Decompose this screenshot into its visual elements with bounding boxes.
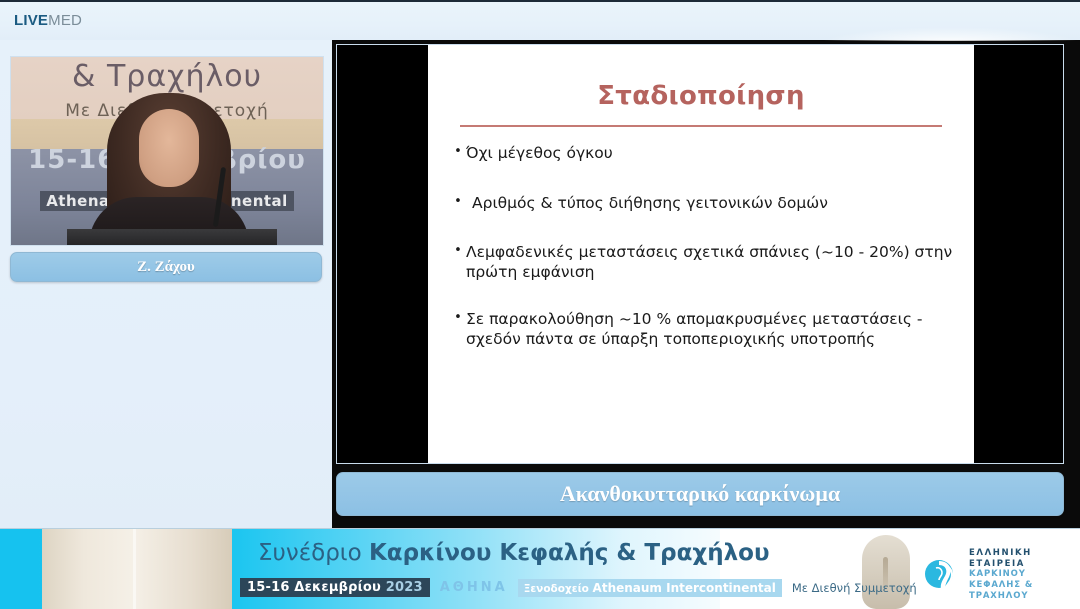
list-item: • Αριθμός & τύπος διήθησης γειτονικών δο… <box>450 193 958 213</box>
presentation-title-bar: Ακανθοκυτταρικό καρκίνωμα <box>336 472 1064 516</box>
bullet-text: Σε παρακολούθηση ~10 % απομακρυσμένες με… <box>466 309 958 350</box>
speaker-video[interactable]: & Τραχήλου Με Διεθνή Συμμετοχή 15-16 Δεκ… <box>10 56 324 246</box>
list-item: • Λεμφαδενικές μεταστάσεις σχετικά σπάνι… <box>450 242 958 283</box>
congress-date-year: 2023 <box>386 580 423 595</box>
bullet-dot-icon: • <box>450 309 466 328</box>
bullet-text: Όχι μέγεθος όγκου <box>466 143 958 163</box>
speaker-name-badge: Ζ. Ζάχου <box>10 252 322 282</box>
podium <box>67 229 277 246</box>
bullet-dot-icon: • <box>450 143 466 162</box>
congress-city: ΑΘΗΝΑ <box>436 580 512 595</box>
speaker-silhouette-face <box>139 109 199 187</box>
logo-live-text: LIVE <box>14 12 48 29</box>
slide-canvas: Σταδιοποίηση • Όχι μέγεθος όγκου • Αριθμ… <box>428 45 974 463</box>
slide-stage[interactable]: Σταδιοποίηση • Όχι μέγεθος όγκου • Αριθμ… <box>336 44 1064 464</box>
livemed-logo[interactable]: LIVEMED <box>14 13 82 28</box>
congress-details: 15-16 Δεκεμβρίου 2023 ΑΘΗΝΑ Ξενοδοχείο A… <box>240 578 917 597</box>
logo-med-text: MED <box>48 12 82 29</box>
backdrop-text-line1: & Τραχήλου <box>11 59 323 94</box>
player-page: LIVEMED & Τραχήλου Με Διεθνή Συμμετοχή 1… <box>0 0 1080 608</box>
slide-title: Σταδιοποίηση <box>428 81 974 111</box>
society-logo-text: ΕΛΛΗΝΙΚΗ ΕΤΑΙΡΕΙΑ ΚΑΡΚΙΝΟΥ ΚΕΦΑΛΗΣ & ΤΡΑ… <box>969 548 1080 601</box>
slide-title-divider <box>460 125 942 127</box>
top-bar: LIVEMED <box>0 0 1080 40</box>
presentation-title-label: Ακανθοκυτταρικό καρκίνωμα <box>560 481 840 507</box>
congress-title-bold: Καρκίνου Κεφαλής & Τραχήλου <box>369 540 770 566</box>
bullet-text: Αριθμός & τύπος διήθησης γειτονικών δομώ… <box>466 193 958 213</box>
cycladic-figurine-icon <box>862 535 910 609</box>
congress-title-light: Συνέδριο <box>258 540 369 566</box>
congress-participation: Με Διεθνή Συμμετοχή <box>788 581 917 595</box>
bullet-dot-icon: • <box>450 193 466 212</box>
list-item: • Όχι μέγεθος όγκου <box>450 143 958 163</box>
bullet-text: Λεμφαδενικές μεταστάσεις σχετικά σπάνιες… <box>466 242 958 283</box>
congress-venue: Ξενοδοχείο Athenaum Intercontinental <box>518 579 782 597</box>
bullet-dot-icon: • <box>450 242 466 261</box>
society-ribbon-head-icon <box>922 555 962 595</box>
congress-venue-name: Athenaum Intercontinental <box>593 581 776 595</box>
congress-date-days: 15-16 Δεκεμβρίου <box>247 580 386 595</box>
society-logo: ΕΛΛΗΝΙΚΗ ΕΤΑΙΡΕΙΑ ΚΑΡΚΙΝΟΥ ΚΕΦΑΛΗΣ & ΤΡΑ… <box>922 548 1080 601</box>
marble-column-image <box>42 529 232 609</box>
congress-title: Συνέδριο Καρκίνου Κεφαλής & Τραχήλου <box>258 542 769 565</box>
society-name-line2: ΚΑΡΚΙΝΟΥ ΚΕΦΑΛΗΣ & ΤΡΑΧΗΛΟΥ <box>969 569 1080 601</box>
congress-venue-prefix: Ξενοδοχείο <box>524 583 593 595</box>
congress-date: 15-16 Δεκεμβρίου 2023 <box>240 578 430 597</box>
slide-bullet-list: • Όχι μέγεθος όγκου • Αριθμός & τύπος δι… <box>450 143 958 370</box>
speaker-pane: & Τραχήλου Με Διεθνή Συμμετοχή 15-16 Δεκ… <box>0 40 332 528</box>
speaker-name-label: Ζ. Ζάχου <box>137 259 195 276</box>
society-name-line1: ΕΛΛΗΝΙΚΗ ΕΤΑΙΡΕΙΑ <box>969 548 1080 569</box>
list-item: • Σε παρακολούθηση ~10 % απομακρυσμένες … <box>450 309 958 350</box>
